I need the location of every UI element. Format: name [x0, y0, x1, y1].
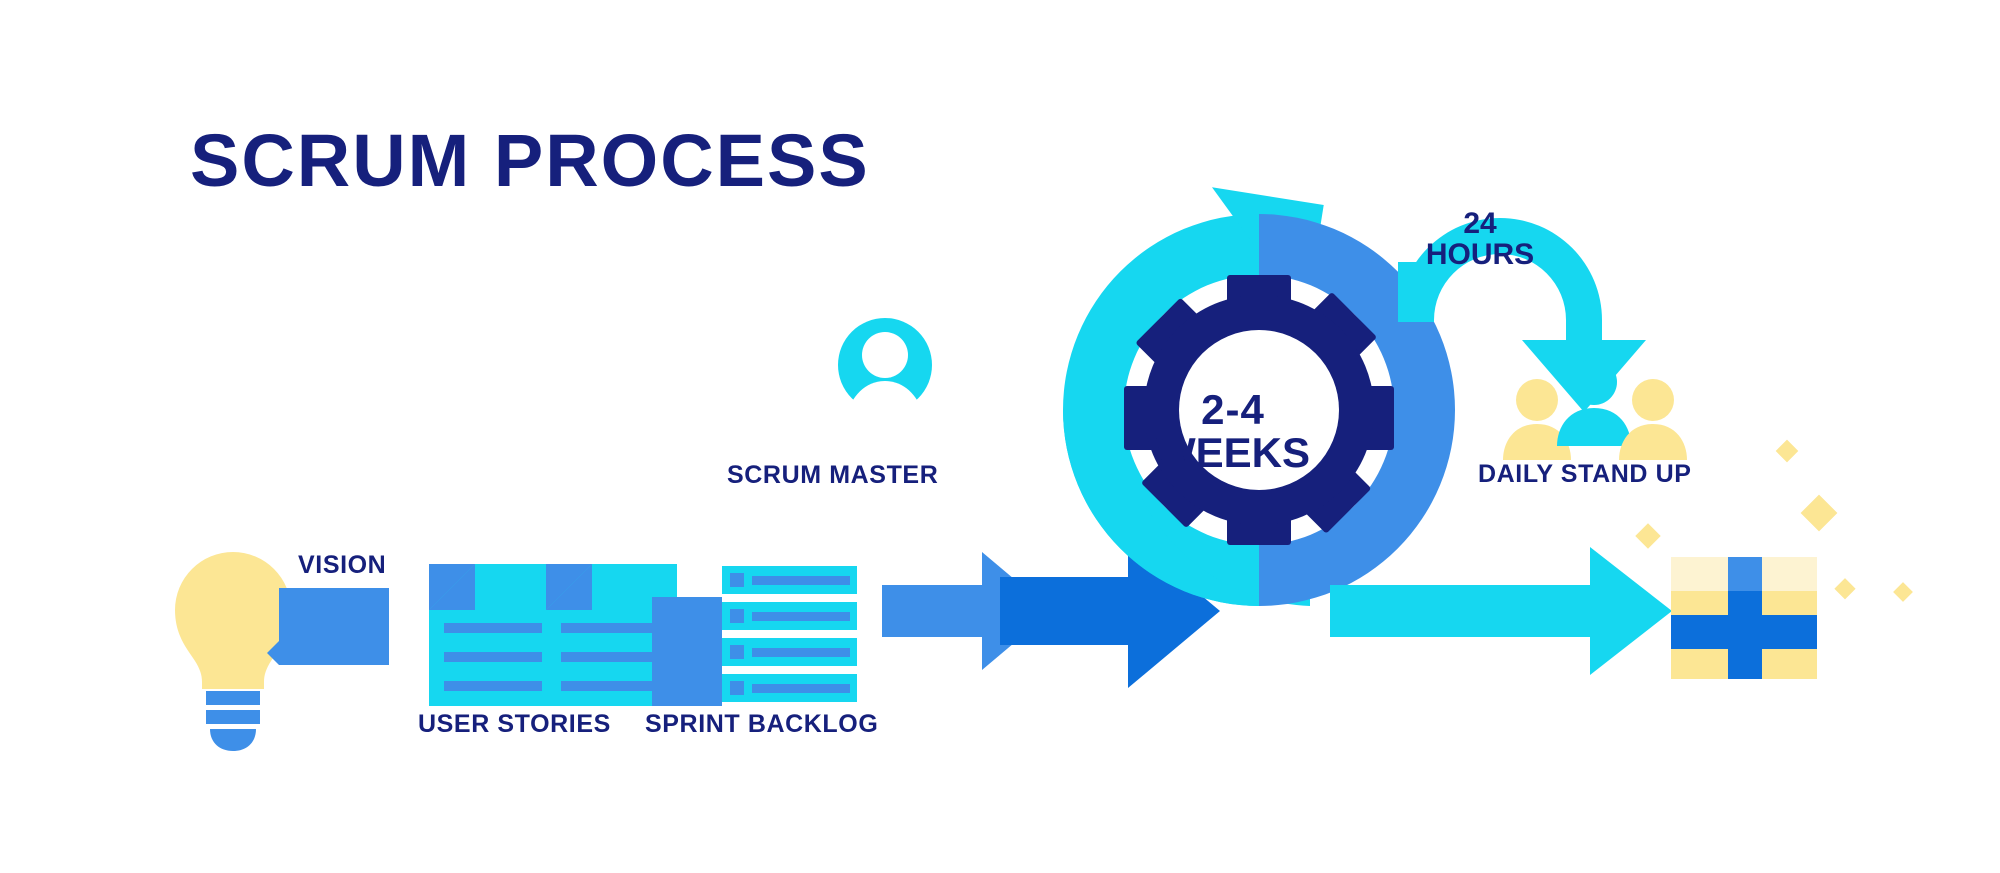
sprint-duration-label: 2-4 WEEKS [1148, 389, 1318, 475]
infographic-canvas: SCRUM PROCESS VISION USER STORIES SPRINT… [0, 0, 2000, 873]
daily-duration-line2: HOURS [1395, 239, 1565, 270]
document-icon-1 [429, 564, 560, 706]
vision-banner-block [267, 588, 389, 665]
label-scrum-master: SCRUM MASTER [727, 461, 938, 490]
sprint-duration-line2: WEEKS [1148, 432, 1318, 475]
label-daily-stand-up: DAILY STAND UP [1478, 460, 1692, 489]
gift-box-icon [1671, 557, 1817, 679]
backlog-list-icon [652, 566, 857, 706]
person-avatar-icon [838, 318, 932, 434]
label-sprint-backlog: SPRINT BACKLOG [645, 710, 878, 739]
page-title: SCRUM PROCESS [190, 118, 870, 203]
label-vision: VISION [298, 551, 386, 580]
sprint-duration-line1: 2-4 [1148, 389, 1318, 432]
team-group-icon [1503, 359, 1687, 460]
team-person-right [1619, 379, 1687, 460]
label-user-stories: USER STORIES [418, 710, 611, 739]
team-person-left [1503, 379, 1571, 460]
daily-duration-line1: 24 [1395, 208, 1565, 239]
daily-duration-label: 24 HOURS [1395, 208, 1565, 270]
